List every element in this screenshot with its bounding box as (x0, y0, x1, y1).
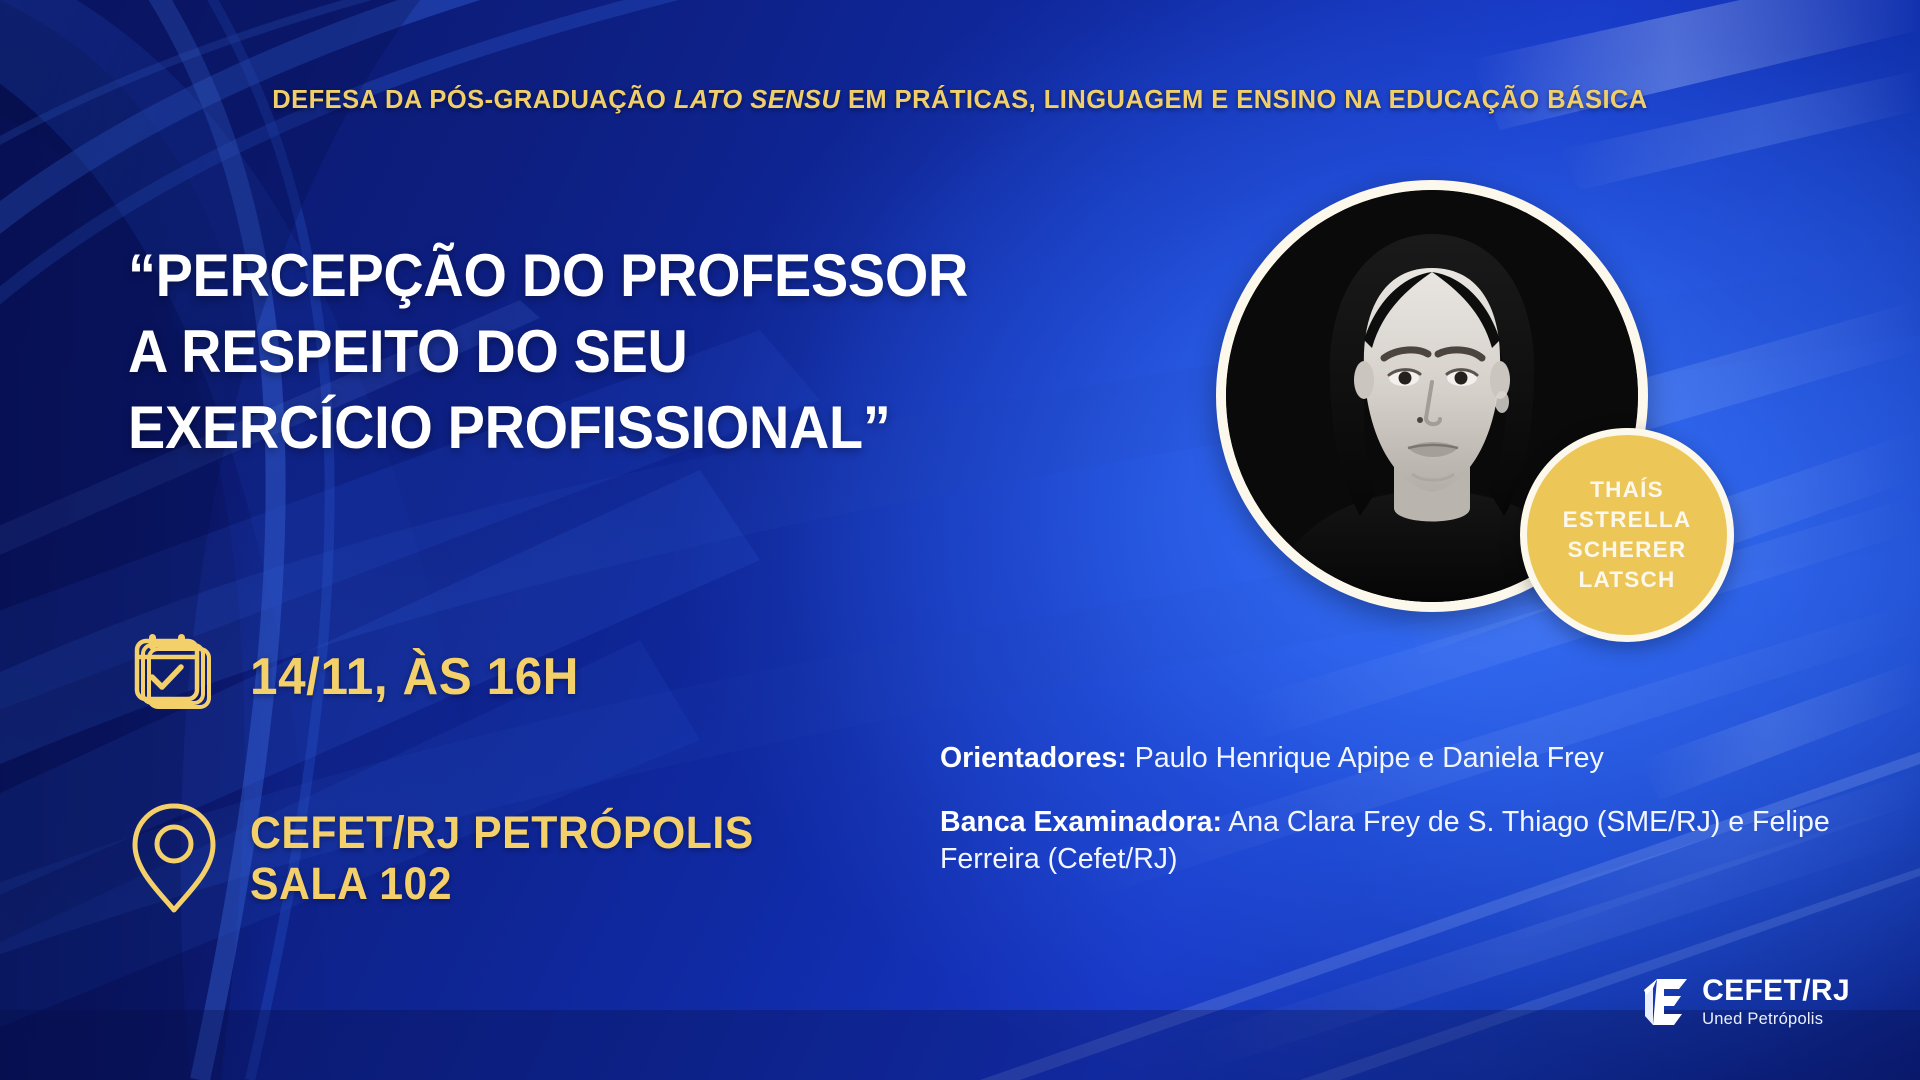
speaker-name-line-2: ESTRELLA (1563, 505, 1692, 535)
event-kicker: DEFESA DA PÓS-GRADUAÇÃO LATO SENSU EM PR… (0, 86, 1920, 115)
page-title: “PERCEPÇÃO DO PROFESSOR A RESPEITO DO SE… (128, 238, 965, 467)
location-row: CEFET/RJ PETRÓPOLIS SALA 102 (128, 800, 780, 916)
date-row: 14/11, ÀS 16H (128, 632, 596, 724)
title-line-1: “PERCEPÇÃO DO PROFESSOR (128, 238, 965, 314)
location-text: CEFET/RJ PETRÓPOLIS SALA 102 (250, 807, 754, 910)
logo-unit: Uned Petrópolis (1702, 1011, 1850, 1028)
speaker-name-line-3: SCHERER (1563, 535, 1692, 565)
location-pin-icon (128, 800, 220, 916)
logo-name: CEFET/RJ (1702, 976, 1850, 1006)
location-line-1: CEFET/RJ PETRÓPOLIS (250, 807, 754, 858)
speaker-name: THAÍS ESTRELLA SCHERER LATSCH (1563, 475, 1692, 595)
board-line: Banca Examinadora: Ana Clara Frey de S. … (940, 804, 1840, 879)
logo-text: CEFET/RJ Uned Petrópolis (1702, 976, 1850, 1028)
cefet-logo: CEFET/RJ Uned Petrópolis (1643, 976, 1850, 1028)
advisors-line: Orientadores: Paulo Henrique Apipe e Dan… (940, 740, 1840, 778)
calendar-check-icon (128, 632, 220, 724)
poster-canvas: DEFESA DA PÓS-GRADUAÇÃO LATO SENSU EM PR… (0, 0, 1920, 1080)
advisors-label: Orientadores: (940, 742, 1127, 774)
date-text: 14/11, ÀS 16H (250, 648, 579, 707)
credits-block: Orientadores: Paulo Henrique Apipe e Dan… (940, 740, 1840, 879)
board-label: Banca Examinadora: (940, 806, 1222, 838)
location-line-2: SALA 102 (250, 858, 754, 909)
speaker-name-line-1: THAÍS (1563, 475, 1692, 505)
kicker-italic: LATO SENSU (674, 86, 841, 114)
cefet-e-mark-icon (1643, 976, 1689, 1028)
status-badge: THAÍS ESTRELLA SCHERER LATSCH (1520, 428, 1734, 642)
kicker-part-2: EM PRÁTICAS, LINGUAGEM E ENSINO NA EDUCA… (840, 86, 1647, 114)
speaker-name-line-4: LATSCH (1563, 565, 1692, 595)
title-line-3: EXERCÍCIO PROFISSIONAL” (128, 390, 965, 466)
advisors-value: Paulo Henrique Apipe e Daniela Frey (1127, 742, 1604, 774)
kicker-part-1: DEFESA DA PÓS-GRADUAÇÃO (272, 86, 674, 114)
title-line-2: A RESPEITO DO SEU (128, 314, 965, 390)
